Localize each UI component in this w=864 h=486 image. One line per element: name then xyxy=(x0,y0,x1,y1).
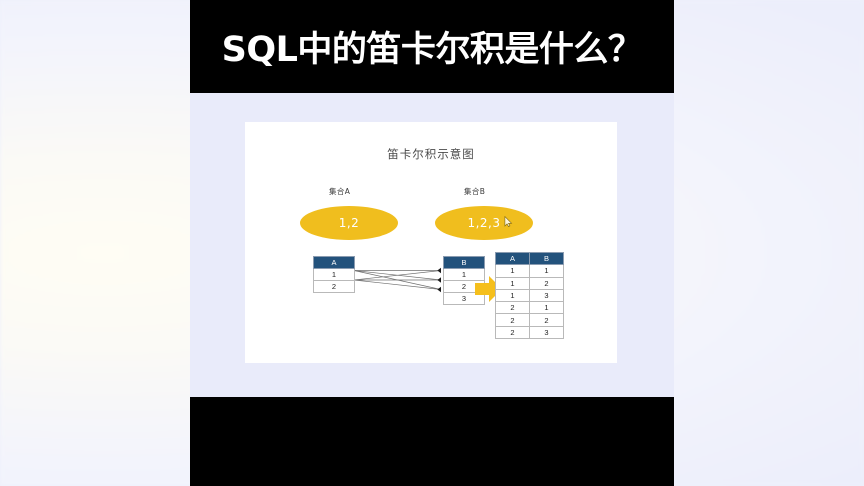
cell: 1 xyxy=(496,289,530,301)
cursor-pointer-icon xyxy=(504,216,513,227)
table-row: 1 1 xyxy=(496,265,564,277)
slide-title: 笛卡尔积示意图 xyxy=(245,146,617,162)
cell: 1 xyxy=(496,265,530,277)
table-row: 1 2 xyxy=(496,277,564,289)
table-cartesian-result: A B 1 1 1 2 1 3 xyxy=(495,252,564,339)
column-header: A xyxy=(496,253,530,265)
cell: 3 xyxy=(530,326,564,338)
cell: 2 xyxy=(530,277,564,289)
set-b-label: 集合B xyxy=(464,186,485,197)
cell: 2 xyxy=(496,326,530,338)
cell: 1 xyxy=(314,269,355,281)
table-row: 2 xyxy=(314,281,355,293)
table-set-a: A 1 2 xyxy=(313,256,355,293)
video-column: SQL中的笛卡尔积是什么？ 笛卡尔积示意图 集合A 1,2 集合B 1,2,3 xyxy=(190,0,674,486)
table-header-row: A xyxy=(314,257,355,269)
cell: 2 xyxy=(314,281,355,293)
page-title: SQL中的笛卡尔积是什么？ xyxy=(190,0,674,93)
cell: 1 xyxy=(530,302,564,314)
cell: 1 xyxy=(530,265,564,277)
table-header-row: B xyxy=(444,257,485,269)
cell: 3 xyxy=(530,289,564,301)
table-header-row: A B xyxy=(496,253,564,265)
cell: 2 xyxy=(496,314,530,326)
cell: 1 xyxy=(496,277,530,289)
set-b-ellipse: 1,2,3 xyxy=(435,206,533,240)
table-row: 1 3 xyxy=(496,289,564,301)
set-a-label: 集合A xyxy=(329,186,350,197)
screenshot-root: SQL中的笛卡尔积是什么？ 笛卡尔积示意图 集合A 1,2 集合B 1,2,3 xyxy=(0,0,864,486)
set-a-ellipse: 1,2 xyxy=(300,206,398,240)
table-row: 2 2 xyxy=(496,314,564,326)
cell: 2 xyxy=(530,314,564,326)
table-row: 2 3 xyxy=(496,326,564,338)
column-header: B xyxy=(530,253,564,265)
cell: 2 xyxy=(496,302,530,314)
slide-card: 笛卡尔积示意图 集合A 1,2 集合B 1,2,3 xyxy=(245,122,617,363)
table-row: 1 xyxy=(314,269,355,281)
set-b-members: 1,2,3 xyxy=(467,216,500,230)
set-a-members: 1,2 xyxy=(339,216,360,230)
bottom-letterbox-bar xyxy=(190,397,674,486)
column-header: B xyxy=(444,257,485,269)
table-row: 2 1 xyxy=(496,302,564,314)
column-header: A xyxy=(314,257,355,269)
